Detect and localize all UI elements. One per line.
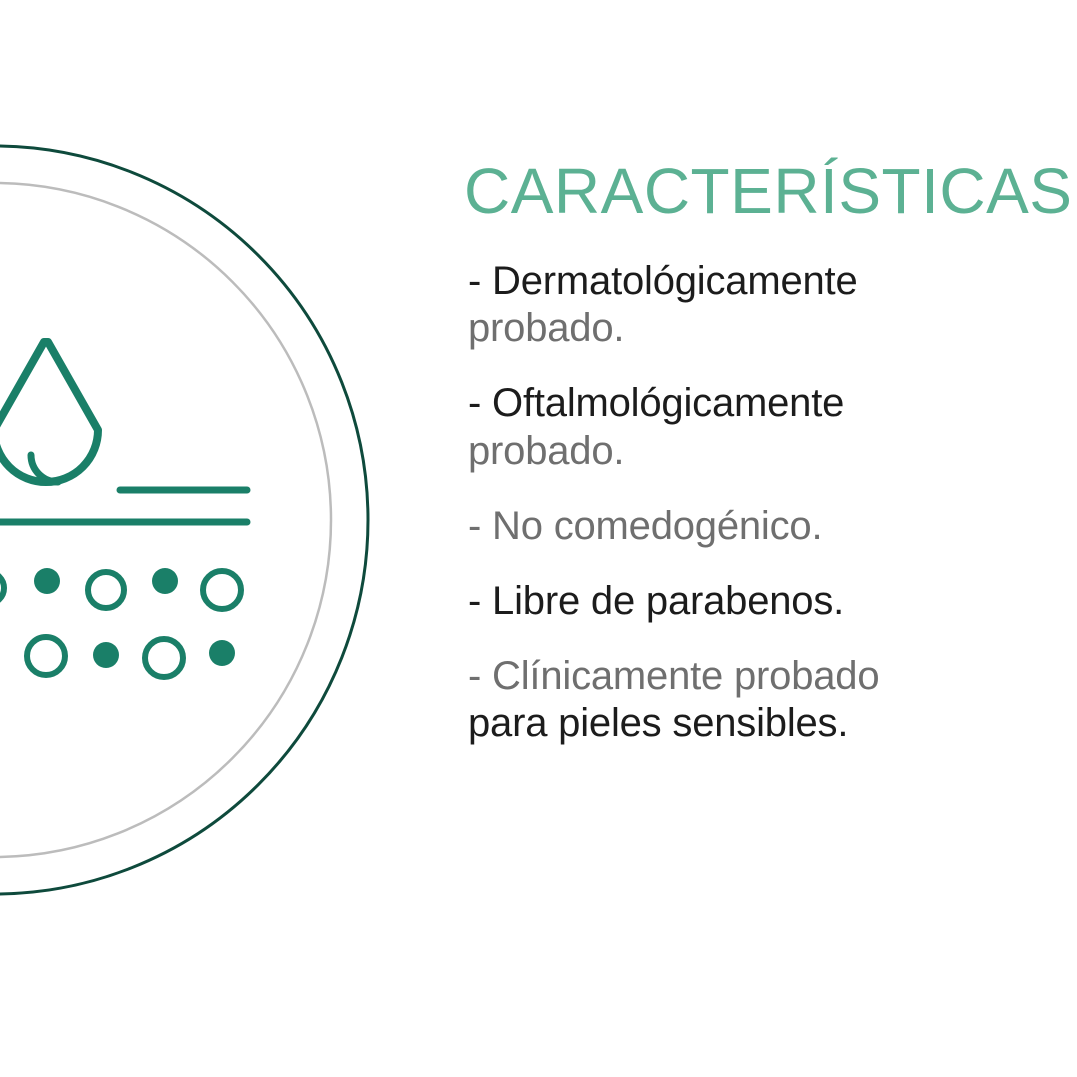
bullet-dash: - [468,381,481,425]
feature-line-secondary: probado. [468,428,1068,475]
feature-text: Oftalmológicamente [492,381,844,425]
feature-line-primary: - Clínicamente probado [468,653,1068,700]
list-item: - No comedogénico. [468,503,1068,550]
feature-line-primary: - Oftalmológicamente [468,380,1068,427]
bullet-dash: - [468,504,481,548]
bullet-dash: - [468,654,481,698]
pore-dots-icon [27,637,235,677]
bullet-dash: - [468,579,481,623]
feature-line-secondary: para pieles sensibles. [468,700,1068,747]
feature-line-primary: - Dermatológicamente [468,258,1068,305]
feature-line-primary: - No comedogénico. [468,503,1068,550]
badge-illustration [0,0,440,1077]
list-item: - Clínicamente probado para pieles sensi… [468,653,1068,747]
water-drop-icon [0,342,98,482]
pore-dots-icon [0,568,241,609]
list-item: - Dermatológicamente probado. [468,258,1068,352]
page-title: CARACTERÍSTICAS [464,159,1072,223]
feature-line-primary: - Libre de parabenos. [468,578,1068,625]
features-content: CARACTERÍSTICAS - Dermatológicamente pro… [462,0,1077,1077]
feature-text: Dermatológicamente [492,259,857,303]
feature-line-secondary: probado. [468,305,1068,352]
product-features-card: CARACTERÍSTICAS - Dermatológicamente pro… [0,0,1077,1077]
feature-text: Clínicamente probado [492,654,879,698]
features-list: - Dermatológicamente probado. - Oftalmol… [468,258,1068,748]
feature-text: No comedogénico. [492,504,822,548]
list-item: - Oftalmológicamente probado. [468,380,1068,474]
skin-hydration-badge [0,0,440,1077]
feature-text: Libre de parabenos. [492,579,844,623]
bullet-dash: - [468,259,481,303]
list-item: - Libre de parabenos. [468,578,1068,625]
